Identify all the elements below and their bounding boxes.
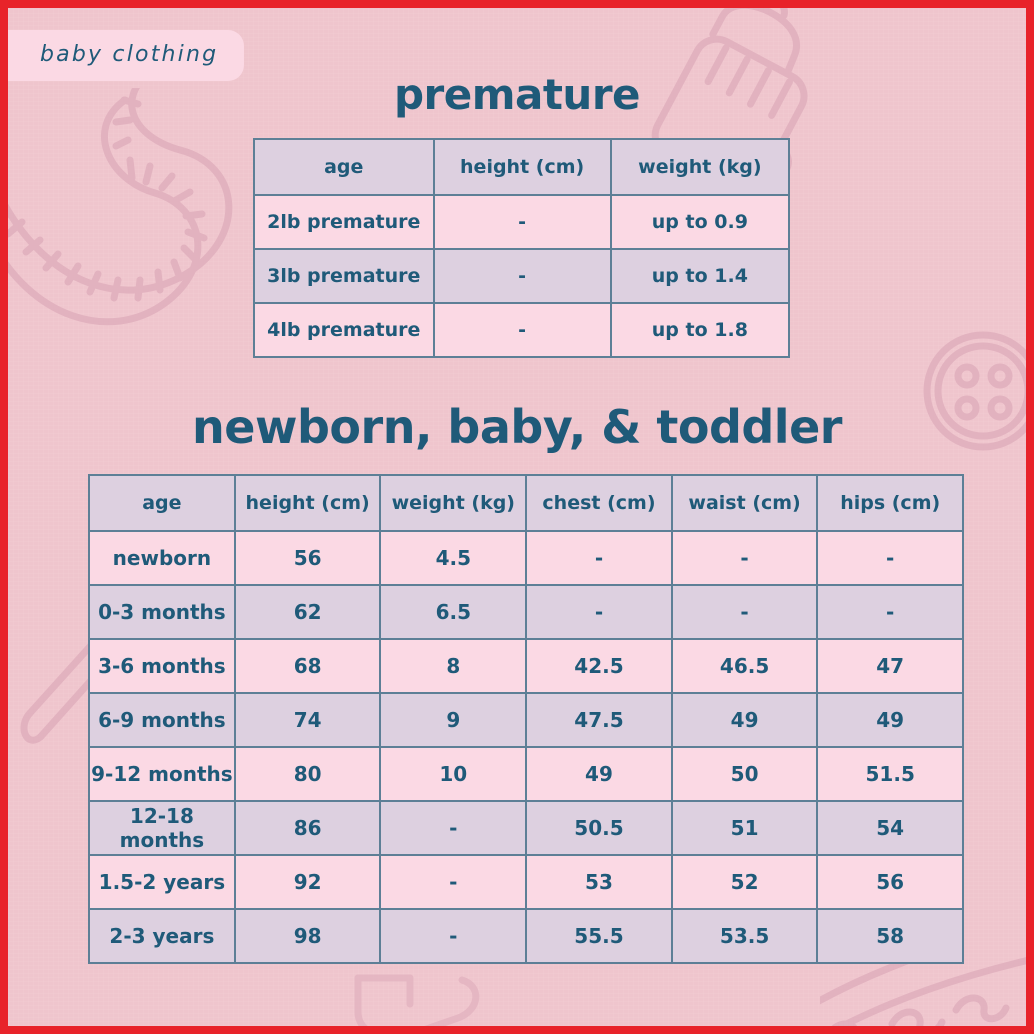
cell-hips: 54 (817, 801, 963, 855)
cell-height: 68 (235, 639, 381, 693)
cell-height: 80 (235, 747, 381, 801)
table-row: 1.5-2 years 92 - 53 52 56 (89, 855, 963, 909)
column-header-hips: hips (cm) (817, 475, 963, 531)
cell-age: 0-3 months (89, 585, 235, 639)
cell-weight: - (380, 909, 526, 963)
cell-hips: 47 (817, 639, 963, 693)
cell-height: 86 (235, 801, 381, 855)
cell-weight: 9 (380, 693, 526, 747)
cell-chest: - (526, 585, 672, 639)
table-header-row: age height (cm) weight (kg) (254, 139, 789, 195)
cell-weight: - (380, 855, 526, 909)
cell-age: 3lb premature (254, 249, 434, 303)
table-row: newborn 56 4.5 - - - (89, 531, 963, 585)
cell-waist: 46.5 (672, 639, 818, 693)
table-row: 2-3 years 98 - 55.5 53.5 58 (89, 909, 963, 963)
cell-age: 2lb premature (254, 195, 434, 249)
column-header-height: height (cm) (434, 139, 611, 195)
cell-age: 4lb premature (254, 303, 434, 357)
newborn-baby-toddler-size-table: age height (cm) weight (kg) chest (cm) w… (88, 474, 964, 964)
size-chart-poster: baby clothing premature age height (cm) … (0, 0, 1034, 1034)
cell-height: - (434, 249, 611, 303)
cell-chest: - (526, 531, 672, 585)
table-row: 0-3 months 62 6.5 - - - (89, 585, 963, 639)
cell-chest: 50.5 (526, 801, 672, 855)
cell-waist: 52 (672, 855, 818, 909)
cell-weight: 6.5 (380, 585, 526, 639)
cell-chest: 47.5 (526, 693, 672, 747)
cell-weight: 8 (380, 639, 526, 693)
cell-weight: 10 (380, 747, 526, 801)
table-row: 6-9 months 74 9 47.5 49 49 (89, 693, 963, 747)
table-row: 12-18 months 86 - 50.5 51 54 (89, 801, 963, 855)
table-row: 3-6 months 68 8 42.5 46.5 47 (89, 639, 963, 693)
cell-chest: 49 (526, 747, 672, 801)
column-header-weight: weight (kg) (611, 139, 789, 195)
measuring-tape-doodle (8, 88, 290, 388)
cell-age: 9-12 months (89, 747, 235, 801)
section-title-newborn-baby-toddler: newborn, baby, & toddler (8, 400, 1026, 454)
cell-weight: - (380, 801, 526, 855)
column-header-age: age (89, 475, 235, 531)
cell-age: 2-3 years (89, 909, 235, 963)
cell-waist: - (672, 585, 818, 639)
column-header-weight: weight (kg) (380, 475, 526, 531)
cell-waist: - (672, 531, 818, 585)
table-row: 4lb premature - up to 1.8 (254, 303, 789, 357)
table-header-row: age height (cm) weight (kg) chest (cm) w… (89, 475, 963, 531)
cell-height: 92 (235, 855, 381, 909)
premature-size-table: age height (cm) weight (kg) 2lb prematur… (253, 138, 790, 358)
cell-waist: 53.5 (672, 909, 818, 963)
cell-chest: 53 (526, 855, 672, 909)
cell-height: 74 (235, 693, 381, 747)
cell-weight: 4.5 (380, 531, 526, 585)
cell-height: - (434, 303, 611, 357)
table-row: 2lb premature - up to 0.9 (254, 195, 789, 249)
cell-height: 62 (235, 585, 381, 639)
cell-height: 56 (235, 531, 381, 585)
cell-hips: 49 (817, 693, 963, 747)
column-header-chest: chest (cm) (526, 475, 672, 531)
cell-weight: up to 0.9 (611, 195, 789, 249)
baby-sock-doodle (338, 968, 518, 1026)
cell-hips: 56 (817, 855, 963, 909)
cell-chest: 42.5 (526, 639, 672, 693)
cell-age: 6-9 months (89, 693, 235, 747)
badge-baby-clothing: baby clothing (8, 30, 244, 81)
cell-waist: 50 (672, 747, 818, 801)
cell-height: - (434, 195, 611, 249)
table-row: 9-12 months 80 10 49 50 51.5 (89, 747, 963, 801)
column-header-age: age (254, 139, 434, 195)
cell-weight: up to 1.8 (611, 303, 789, 357)
cell-waist: 51 (672, 801, 818, 855)
cell-waist: 49 (672, 693, 818, 747)
badge-label: baby clothing (40, 42, 218, 67)
cell-age: 3-6 months (89, 639, 235, 693)
cell-weight: up to 1.4 (611, 249, 789, 303)
column-header-waist: waist (cm) (672, 475, 818, 531)
cell-chest: 55.5 (526, 909, 672, 963)
cell-hips: 51.5 (817, 747, 963, 801)
cell-height: 98 (235, 909, 381, 963)
table-row: 3lb premature - up to 1.4 (254, 249, 789, 303)
column-header-height: height (cm) (235, 475, 381, 531)
cell-age: 1.5-2 years (89, 855, 235, 909)
cell-hips: - (817, 531, 963, 585)
cell-age: 12-18 months (89, 801, 235, 855)
cell-hips: 58 (817, 909, 963, 963)
cell-age: newborn (89, 531, 235, 585)
poster-canvas: baby clothing premature age height (cm) … (8, 8, 1026, 1026)
cell-hips: - (817, 585, 963, 639)
